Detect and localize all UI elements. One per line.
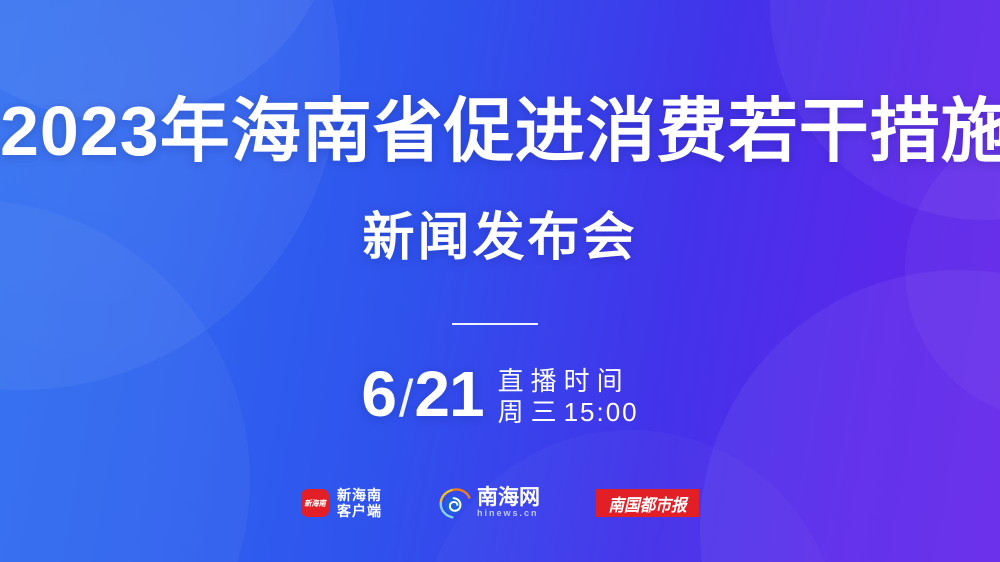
date-separator: /	[399, 373, 413, 425]
spiral-icon	[438, 486, 472, 520]
poster-content: 2023年海南省促进消费若干措施 新闻发布会 6 / 21 直播时间 周三15:…	[0, 0, 1000, 562]
date-day: 21	[414, 362, 483, 426]
sponsor-logo-bar: 新海南 新海南 客户端	[0, 486, 1000, 520]
weekday-time: 周三15:00	[496, 396, 639, 428]
hinews-url: hinews.cn	[477, 508, 540, 519]
nanguo-daily-plaque: 南国都市报	[596, 489, 699, 517]
logo-xinhainan-app[interactable]: 新海南 新海南 客户端	[301, 487, 382, 519]
weekday-label: 周三	[498, 397, 564, 427]
poster-canvas: 2023年海南省促进消费若干措施 新闻发布会 6 / 21 直播时间 周三15:…	[0, 0, 1000, 562]
xinhainan-app-name: 新海南 客户端	[337, 487, 382, 519]
xinhainan-icon-text: 新海南	[304, 498, 326, 509]
xinhainan-name-line1: 新海南	[337, 487, 382, 503]
hinews-name: 南海网	[477, 487, 540, 508]
logo-nanguo-daily[interactable]: 南国都市报	[596, 489, 699, 517]
page-title: 2023年海南省促进消费若干措施	[0, 96, 1000, 166]
xinhainan-app-icon: 新海南	[301, 489, 329, 517]
live-time-label: 直播时间	[496, 366, 639, 396]
page-subtitle: 新闻发布会	[0, 212, 1000, 264]
title-divider	[452, 323, 538, 325]
event-date: 6 / 21	[361, 362, 483, 426]
time-value: 15:00	[564, 397, 639, 427]
schedule-block: 直播时间 周三15:00	[496, 362, 639, 428]
nanguo-daily-name: 南国都市报	[608, 491, 686, 516]
xinhainan-name-line2: 客户端	[337, 503, 382, 519]
datetime-row: 6 / 21 直播时间 周三15:00	[0, 362, 1000, 428]
logo-hinews[interactable]: 南海网 hinews.cn	[438, 486, 540, 520]
date-month: 6	[361, 362, 396, 426]
hinews-wordmark: 南海网 hinews.cn	[477, 487, 540, 519]
